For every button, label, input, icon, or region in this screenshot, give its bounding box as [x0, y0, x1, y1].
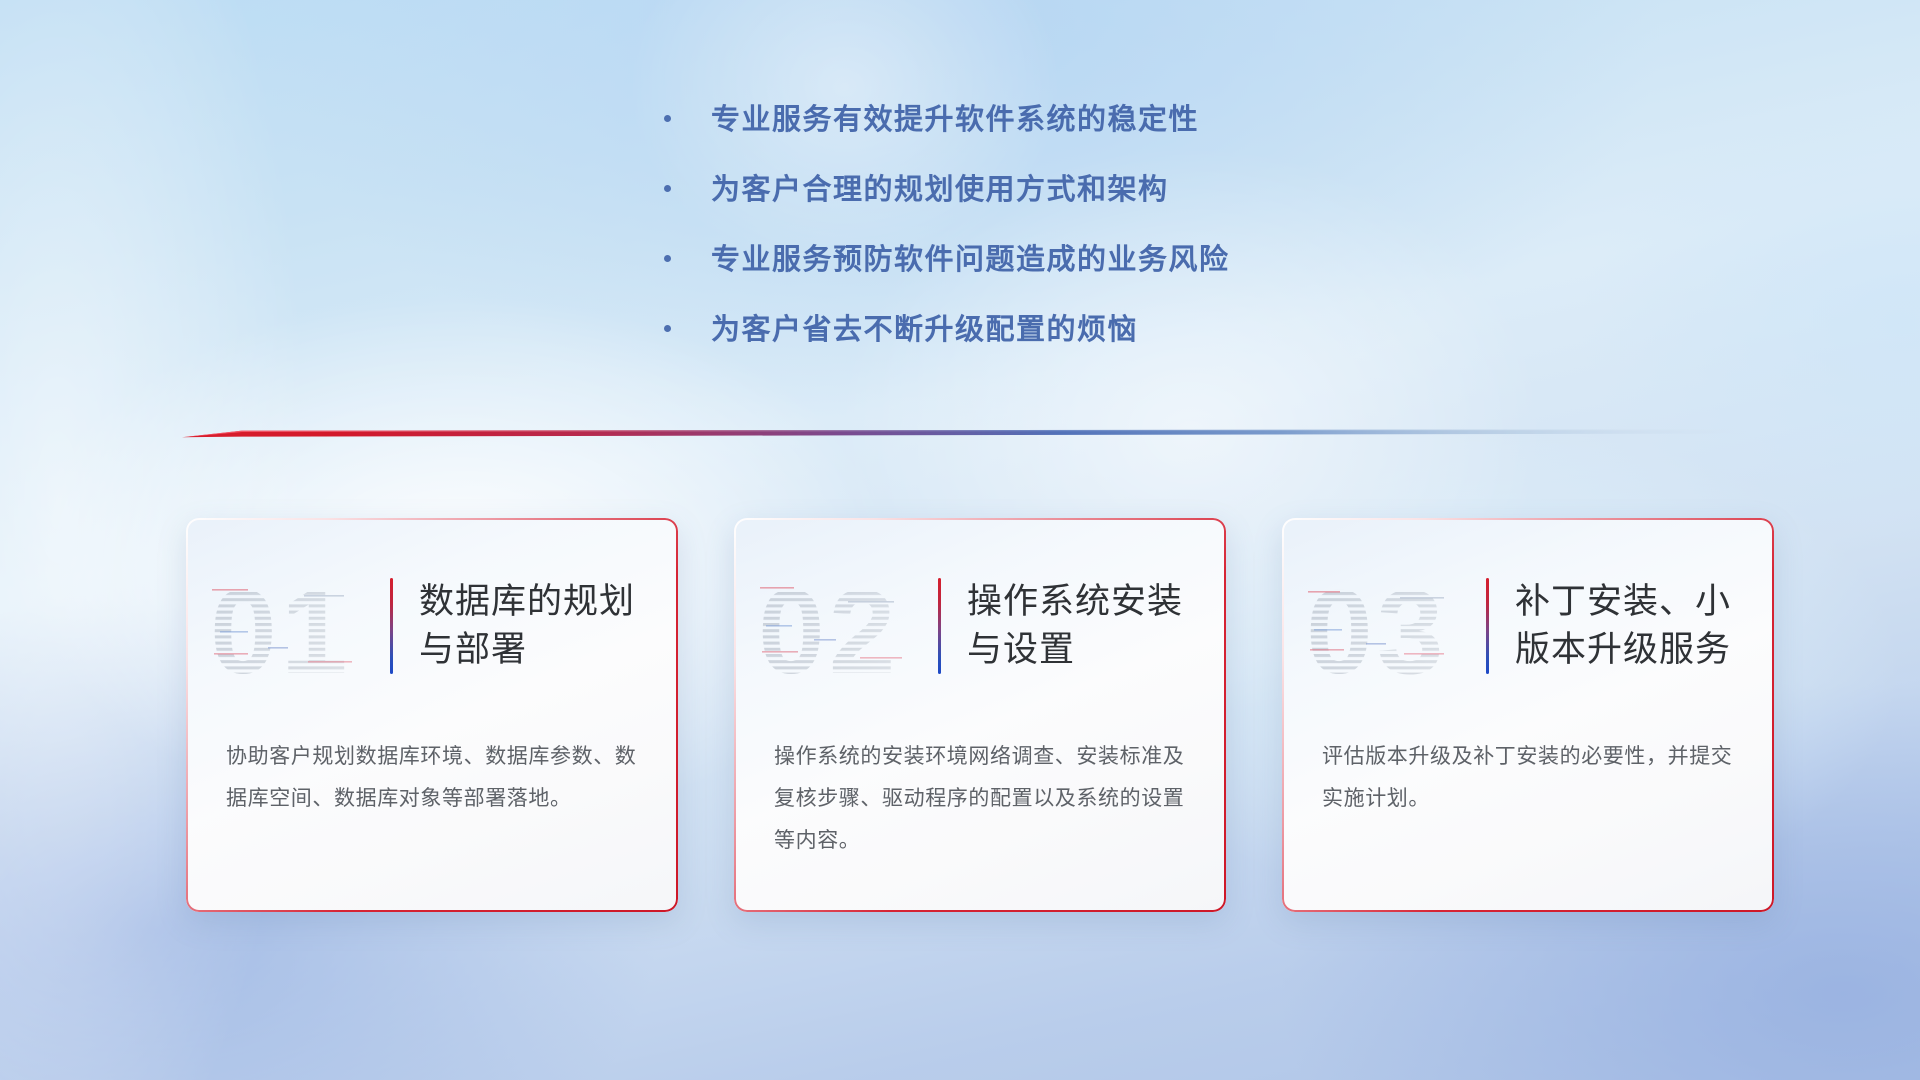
- bullet-item: 为客户省去不断升级配置的烦恼: [664, 316, 1564, 345]
- tapered-accent-bar-icon: [182, 424, 1747, 444]
- card-accent-rule: [1486, 578, 1489, 674]
- card-title: 操作系统安装 与设置: [967, 578, 1226, 673]
- svg-text:02: 02: [758, 565, 899, 691]
- card-title-line-1: 数据库的规划: [419, 578, 678, 626]
- card-title-line-2: 与部署: [419, 626, 678, 674]
- benefits-bullet-list: 专业服务有效提升软件系统的稳定性 为客户合理的规划使用方式和架构 专业服务预防软…: [664, 106, 1564, 386]
- bullet-dot-icon: [664, 325, 671, 332]
- card-number-watermark: 03: [1304, 561, 1486, 691]
- card-header: 01 数据库的规划 与部署: [186, 556, 678, 696]
- card-description: 评估版本升级及补丁安装的必要性，并提交实施计划。: [1322, 736, 1740, 820]
- card-title: 补丁安装、小 版本升级服务: [1515, 578, 1774, 673]
- bullet-label: 为客户合理的规划使用方式和架构: [711, 176, 1169, 205]
- service-card[interactable]: 02 操作系统安装 与设置 操作系统的安装环境网络调查: [734, 518, 1226, 912]
- card-header: 03 补丁安装、小 版本升级服务: [1282, 556, 1774, 696]
- card-header: 02 操作系统安装 与设置: [734, 556, 1226, 696]
- card-title-line-2: 与设置: [967, 626, 1226, 674]
- bullet-item: 为客户合理的规划使用方式和架构: [664, 176, 1564, 205]
- card-accent-rule: [390, 578, 393, 674]
- card-title-line-1: 操作系统安装: [967, 578, 1226, 626]
- card-description: 协助客户规划数据库环境、数据库参数、数据库空间、数据库对象等部署落地。: [226, 736, 644, 820]
- card-number-watermark: 02: [756, 561, 938, 691]
- service-card[interactable]: 01 数据库的规划 与部署 协助: [186, 518, 678, 912]
- section-divider-bar: [182, 424, 1747, 444]
- bullet-item: 专业服务预防软件问题造成的业务风险: [664, 246, 1564, 275]
- service-card-group: 01 数据库的规划 与部署 协助: [186, 518, 1774, 912]
- striped-number-03-icon: 03: [1304, 561, 1486, 691]
- bullet-dot-icon: [664, 255, 671, 262]
- bullet-label: 为客户省去不断升级配置的烦恼: [711, 316, 1138, 345]
- card-number-watermark: 01: [208, 561, 390, 691]
- card-accent-rule: [938, 578, 941, 674]
- card-description: 操作系统的安装环境网络调查、安装标准及复核步骤、驱动程序的配置以及系统的设置等内…: [774, 736, 1192, 862]
- svg-text:03: 03: [1306, 565, 1447, 691]
- bullet-dot-icon: [664, 115, 671, 122]
- bullet-item: 专业服务有效提升软件系统的稳定性: [664, 106, 1564, 135]
- bullet-label: 专业服务有效提升软件系统的稳定性: [711, 106, 1199, 135]
- svg-text:01: 01: [210, 565, 351, 691]
- bullet-label: 专业服务预防软件问题造成的业务风险: [711, 246, 1230, 275]
- card-title-line-1: 补丁安装、小: [1515, 578, 1774, 626]
- striped-number-01-icon: 01: [208, 561, 390, 691]
- striped-number-02-icon: 02: [756, 561, 938, 691]
- bullet-dot-icon: [664, 185, 671, 192]
- card-title-line-2: 版本升级服务: [1515, 626, 1774, 674]
- service-card[interactable]: 03 补丁安装、小 版本升级服务 评估版本升级及补丁安: [1282, 518, 1774, 912]
- card-title: 数据库的规划 与部署: [419, 578, 678, 673]
